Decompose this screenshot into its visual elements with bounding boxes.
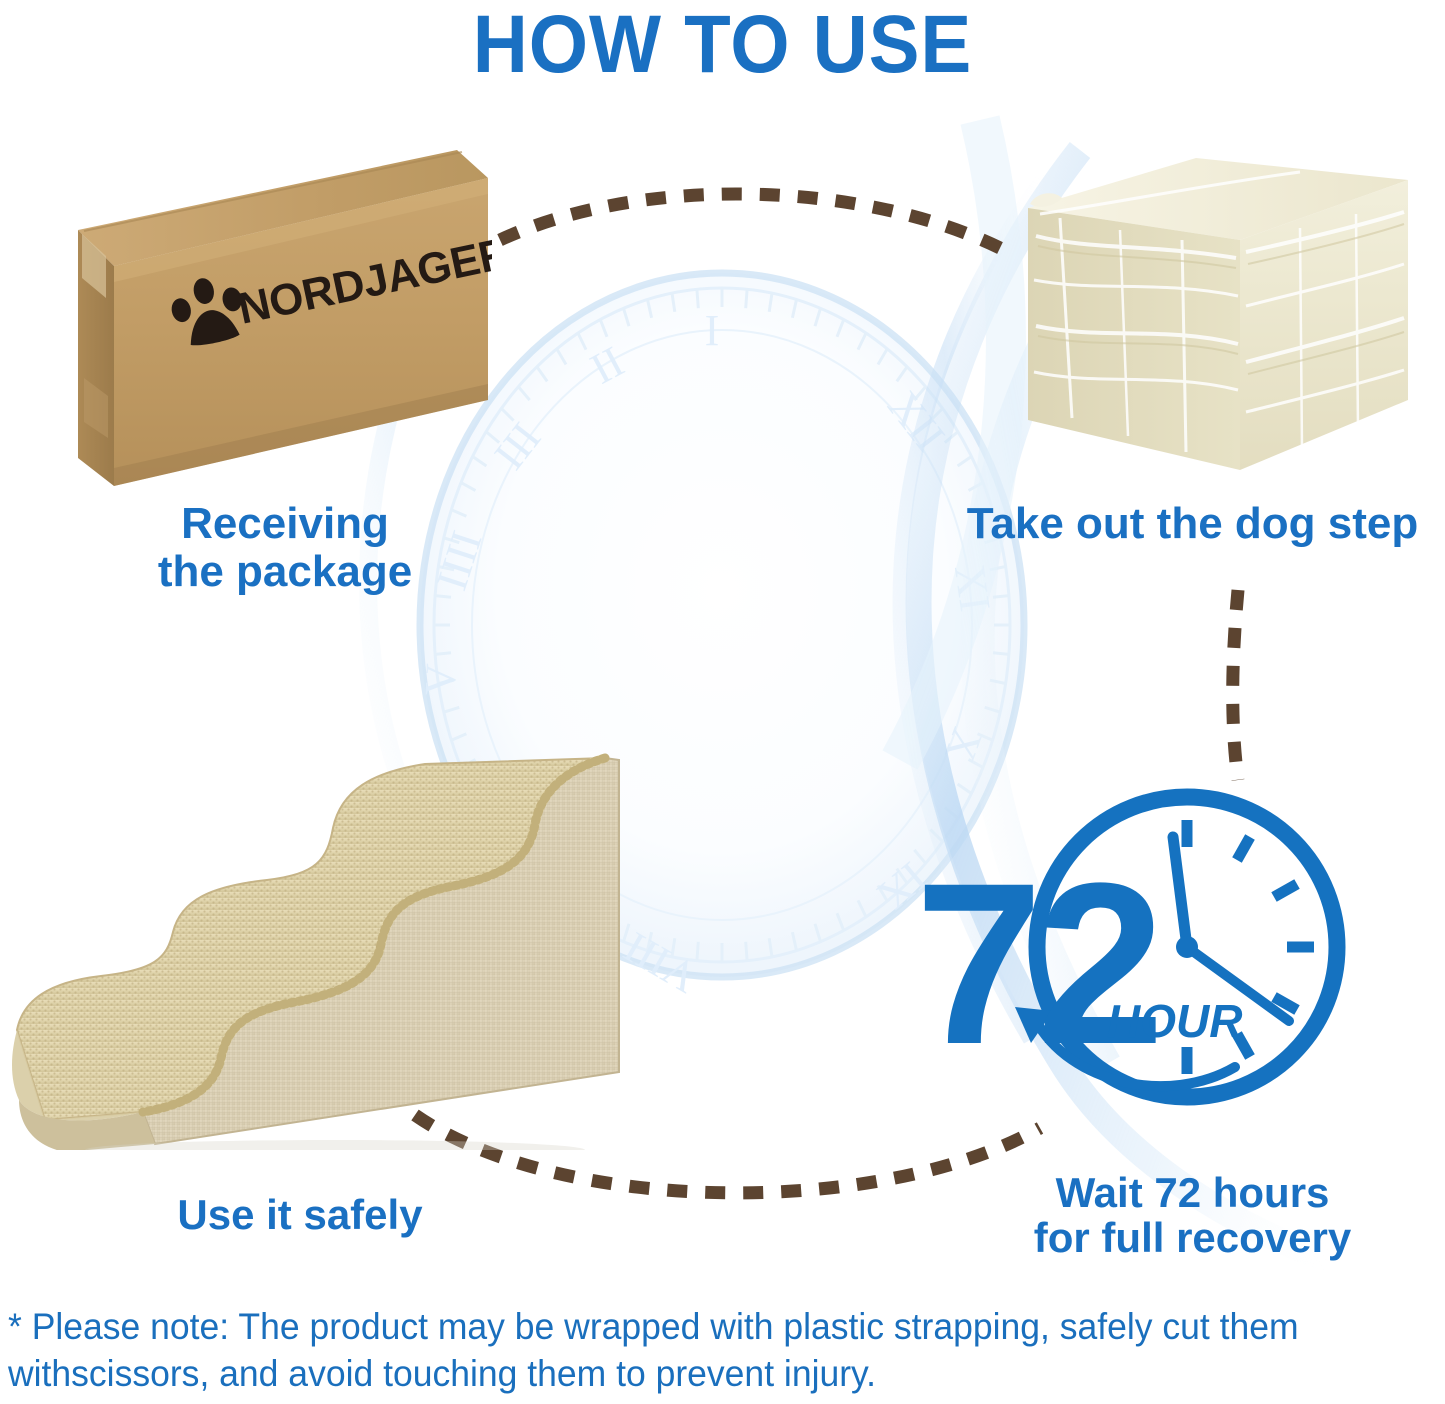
clock-number: 72 (915, 835, 1159, 1092)
svg-text:X: X (935, 722, 992, 769)
dashed-arc-right (1233, 590, 1238, 780)
clock-hour-hand (1173, 837, 1187, 947)
dashed-arc-top (500, 194, 1000, 248)
caption-use-it-safely: Use it safely (60, 1192, 540, 1237)
svg-text:V: V (415, 663, 465, 697)
footnote-text: Please note: The product may be wrapped … (8, 1306, 1299, 1394)
caption-wait-72-hours: Wait 72 hours for full recovery (965, 1170, 1420, 1261)
svg-text:XII: XII (878, 382, 954, 460)
svg-text:XI: XI (945, 562, 1000, 615)
caption-receiving-the-package: Receiving the package (70, 500, 500, 595)
svg-text:II: II (583, 337, 632, 394)
svg-text:III: III (485, 414, 551, 479)
cardboard-box-image: NORDJAGER (62, 138, 492, 498)
footnote-marker: * (8, 1306, 22, 1347)
dog-step-stairs-image: NORDJAGER (5, 700, 635, 1150)
page-title: HOW TO USE (51, 0, 1395, 92)
clock-unit-label: HOUR (1107, 995, 1242, 1047)
infographic-canvas: I II III IIII V VI VII VIII IX X XI XII … (0, 0, 1445, 1404)
caption-take-out-the-dog-step: Take out the dog step (940, 500, 1445, 548)
72-hour-clock-icon: 72 HOUR (905, 775, 1355, 1120)
svg-text:I: I (705, 306, 720, 355)
plastic-wrapped-package-image (1000, 140, 1410, 485)
footnote: * Please note: The product may be wrappe… (8, 1303, 1371, 1398)
